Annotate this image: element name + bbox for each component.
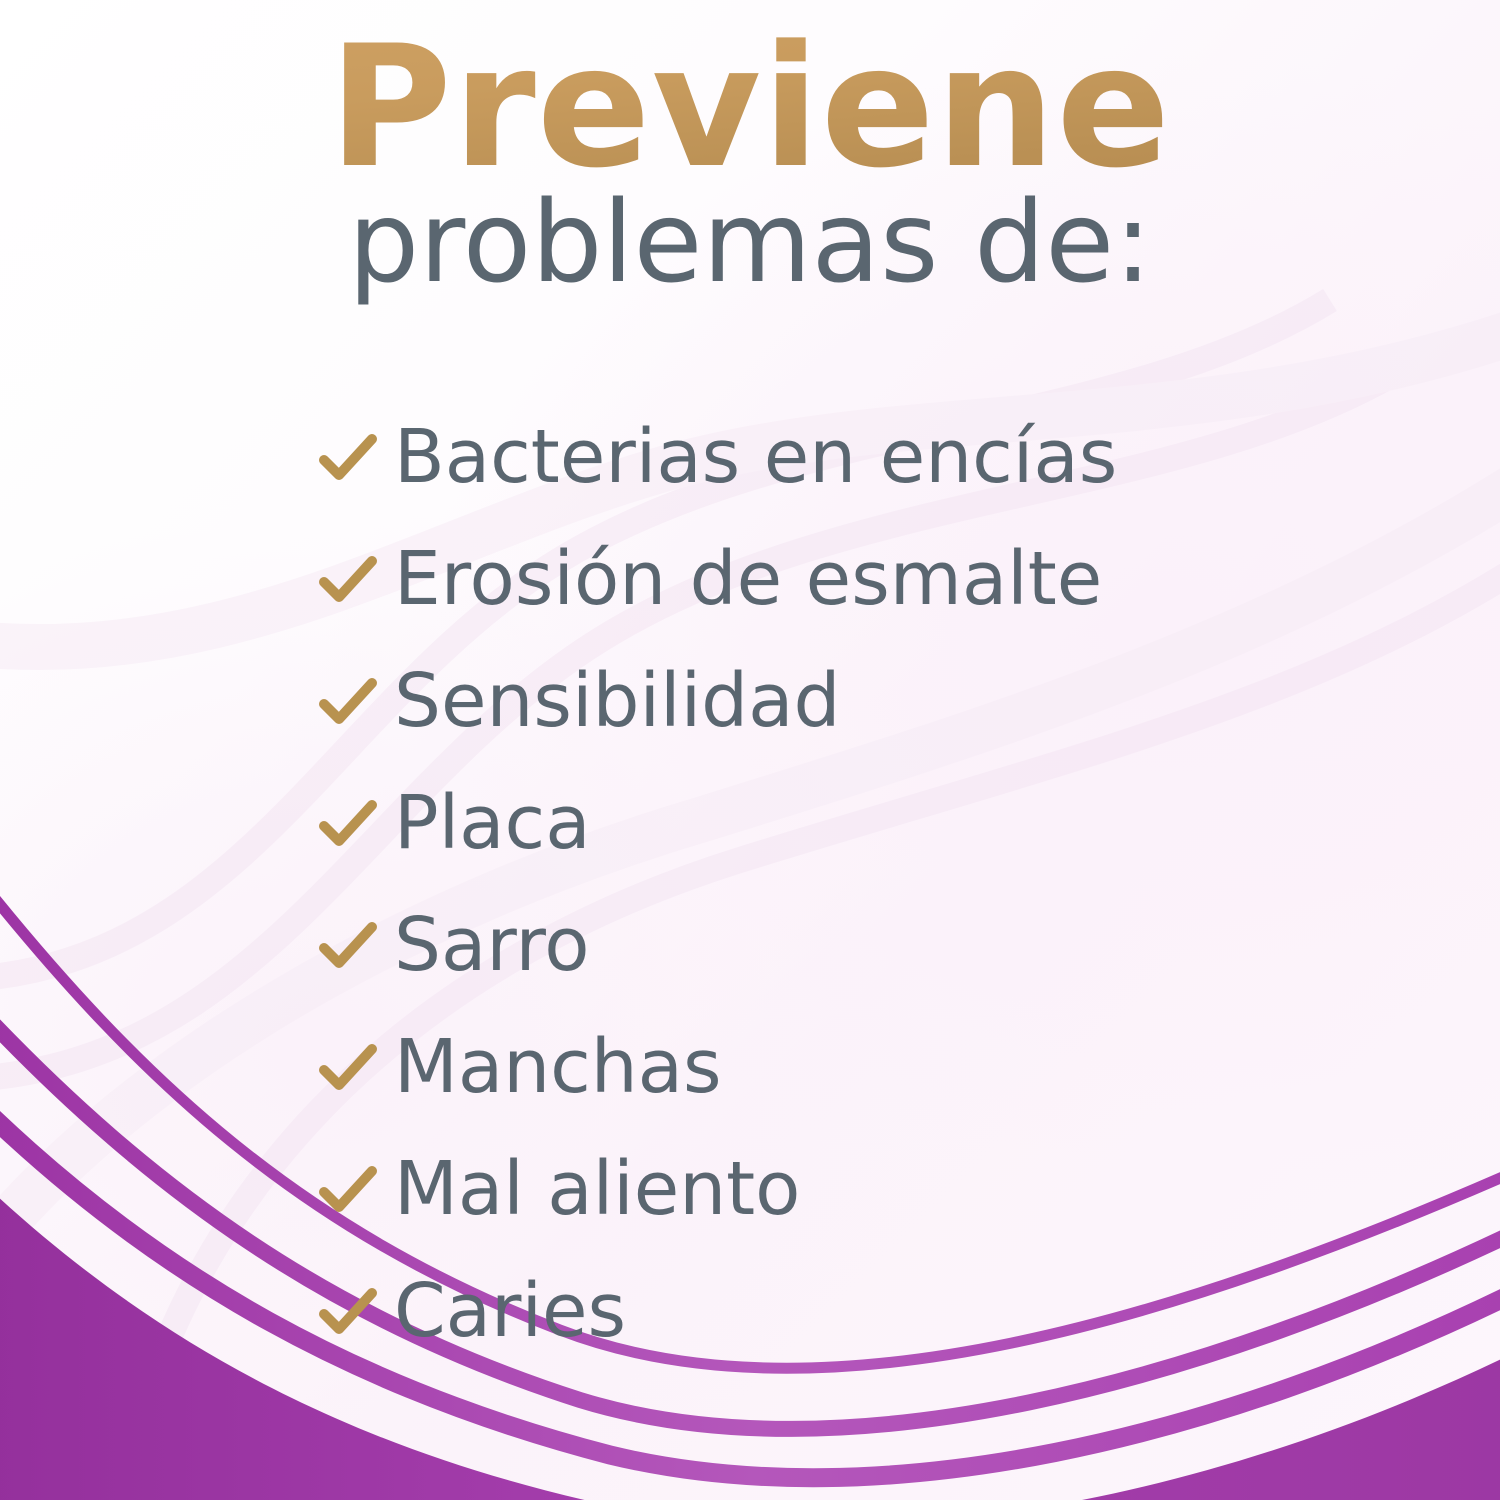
list-item: Sarro (318, 884, 1318, 1006)
checkmark-icon (318, 1039, 378, 1099)
list-item-label: Manchas (394, 1030, 722, 1104)
list-item: Manchas (318, 1006, 1318, 1128)
list-item-label: Sarro (394, 908, 590, 982)
list-item: Bacterias en encías (318, 396, 1318, 518)
page-subtitle: problemas de: (0, 185, 1500, 303)
checkmark-icon (318, 1283, 378, 1343)
list-item: Placa (318, 762, 1318, 884)
checkmark-icon (318, 795, 378, 855)
list-item-label: Placa (394, 786, 591, 860)
checkmark-icon (318, 1161, 378, 1221)
poster-canvas: Previene problemas de: Bacterias en encí… (0, 0, 1500, 1500)
list-item-label: Caries (394, 1274, 626, 1348)
checkmark-icon (318, 551, 378, 611)
list-item-label: Bacterias en encías (394, 420, 1117, 494)
list-item: Mal aliento (318, 1128, 1318, 1250)
list-item: Sensibilidad (318, 640, 1318, 762)
list-item-label: Erosión de esmalte (394, 542, 1102, 616)
list-item-label: Mal aliento (394, 1152, 800, 1226)
checkmark-icon (318, 673, 378, 733)
heading-block: Previene problemas de: (0, 22, 1500, 303)
list-item: Caries (318, 1250, 1318, 1372)
page-title: Previene (0, 22, 1500, 195)
checkmark-icon (318, 429, 378, 489)
list-item: Erosión de esmalte (318, 518, 1318, 640)
benefits-checklist: Bacterias en encías Erosión de esmalte S… (318, 396, 1318, 1372)
checkmark-icon (318, 917, 378, 977)
list-item-label: Sensibilidad (394, 664, 840, 738)
